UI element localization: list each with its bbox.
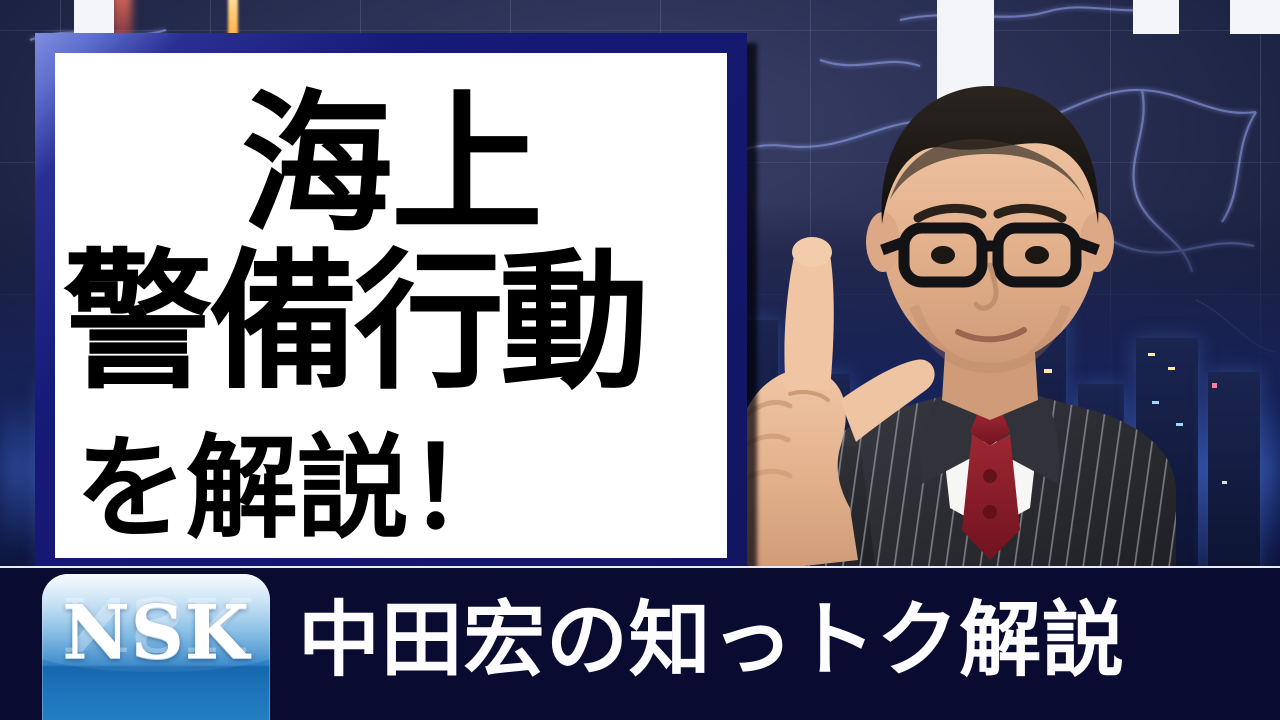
- head: [866, 86, 1114, 368]
- title-line-3: を解説！: [75, 435, 519, 544]
- backdrop-column: [1133, 0, 1179, 34]
- backdrop-column: [1230, 0, 1280, 34]
- title-line-1: 海上: [55, 91, 727, 238]
- presenter-figure: [690, 60, 1280, 572]
- show-title: 中田宏の知っトク解説: [298, 600, 1125, 682]
- title-card: 海上 警備行動 を解説！: [35, 33, 747, 578]
- title-line-2: 警備行動: [63, 251, 645, 397]
- title-card-inner: 海上 警備行動 を解説！: [55, 53, 727, 558]
- backdrop-column: [74, 0, 114, 34]
- bottom-bar-hairline: [0, 566, 1280, 568]
- bottom-title-bar: NSK NSK 中田宏の知っトク解説: [0, 566, 1280, 720]
- nsk-logo-reflection: NSK: [42, 580, 270, 666]
- thumbnail-stage: 海上 警備行動 を解説！ NSK NSK 中田宏の知っトク解説: [0, 0, 1280, 720]
- nsk-logo[interactable]: NSK NSK: [42, 574, 270, 720]
